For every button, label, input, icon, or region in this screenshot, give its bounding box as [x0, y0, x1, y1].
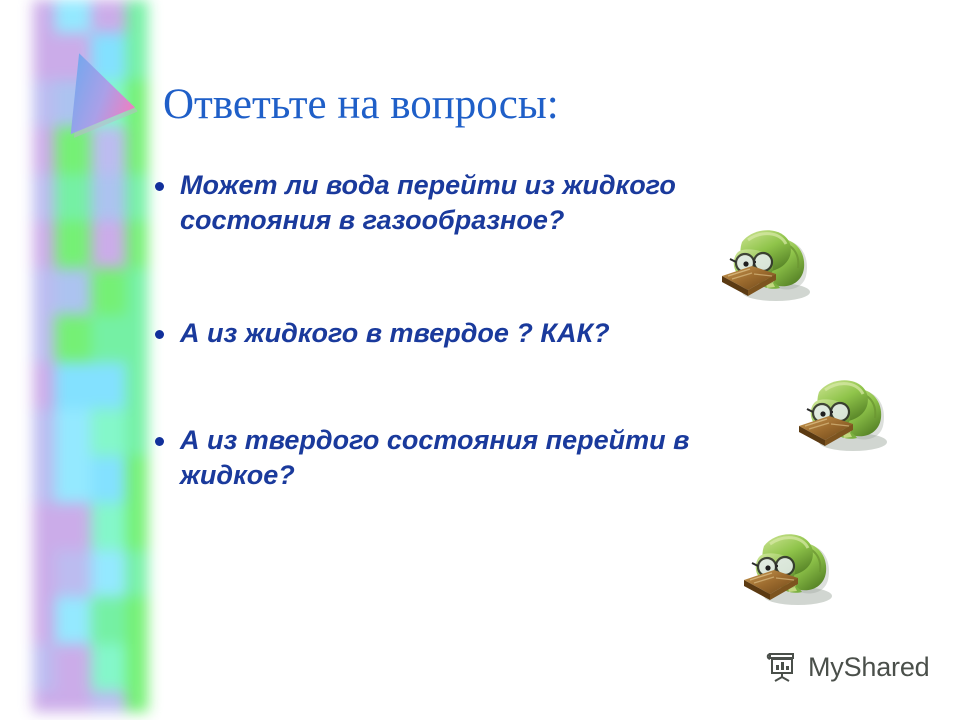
mosaic-cell — [33, 362, 55, 409]
list-item: А из твердого состояния перейти в жидкое… — [155, 423, 735, 493]
bullet-dot-icon — [155, 182, 164, 191]
list-item-label: А из твердого состояния перейти в жидкое… — [180, 423, 735, 493]
mosaic-cell — [91, 456, 127, 503]
mosaic-cell — [91, 550, 127, 597]
mosaic-cell — [55, 362, 91, 409]
mosaic-cell — [91, 315, 127, 362]
mosaic-cell — [55, 550, 91, 597]
mosaic-cell — [33, 221, 55, 268]
mosaic-cell — [55, 456, 91, 503]
mosaic-cell — [33, 550, 55, 597]
mosaic-cell — [126, 362, 148, 409]
flipchart-chart-icon — [765, 650, 799, 684]
bullet-dot-icon — [155, 330, 164, 339]
bullet-dot-icon — [155, 437, 164, 446]
mosaic-cell — [91, 174, 127, 221]
mosaic-cell — [91, 644, 127, 691]
bullet-list: Может ли вода перейти из жидкого состоян… — [155, 168, 735, 493]
mosaic-cell — [55, 597, 91, 644]
myshared-watermark: MyShared — [765, 650, 929, 684]
watermark-label: MyShared — [808, 652, 929, 683]
turtle-reading-book-icon — [740, 522, 836, 610]
turtle-reading-book-icon — [718, 218, 814, 306]
mosaic-cell — [33, 503, 55, 550]
mosaic-cell — [33, 409, 55, 456]
presentation-slide: Ответьте на вопросы: Может ли вода перей… — [0, 0, 960, 720]
mosaic-cell — [126, 174, 148, 221]
mosaic-cell — [91, 268, 127, 315]
mosaic-cell — [126, 268, 148, 315]
mosaic-cell — [55, 315, 91, 362]
mosaic-cell — [91, 691, 127, 712]
turtle-reading-book-icon — [795, 368, 891, 456]
mosaic-cell — [126, 456, 148, 503]
mosaic-cell — [33, 174, 55, 221]
mosaic-cell — [126, 550, 148, 597]
mosaic-cell — [126, 0, 148, 33]
triangle-accent-icon — [59, 46, 139, 143]
mosaic-cell — [33, 80, 55, 127]
mosaic-cell — [33, 0, 55, 33]
mosaic-cell — [55, 0, 91, 33]
mosaic-cell — [126, 315, 148, 362]
mosaic-cell — [55, 503, 91, 550]
mosaic-cell — [91, 409, 127, 456]
mosaic-cell — [33, 456, 55, 503]
mosaic-cell — [91, 503, 127, 550]
mosaic-cell — [126, 597, 148, 644]
mosaic-cell — [126, 644, 148, 691]
page-title: Ответьте на вопросы: — [163, 82, 903, 127]
mosaic-cell — [126, 691, 148, 712]
mosaic-cell — [33, 127, 55, 174]
mosaic-cell — [33, 644, 55, 691]
list-item-label: Может ли вода перейти из жидкого состоян… — [180, 168, 735, 238]
mosaic-cell — [55, 409, 91, 456]
mosaic-cell — [91, 597, 127, 644]
mosaic-cell — [33, 268, 55, 315]
mosaic-cell — [33, 597, 55, 644]
mosaic-cell — [55, 268, 91, 315]
mosaic-cell — [33, 691, 55, 712]
mosaic-cell — [55, 221, 91, 268]
mosaic-cell — [91, 221, 127, 268]
mosaic-cell — [33, 315, 55, 362]
mosaic-cell — [91, 362, 127, 409]
mosaic-cell — [33, 33, 55, 80]
mosaic-cell — [55, 644, 91, 691]
mosaic-cell — [55, 691, 91, 712]
mosaic-cell — [91, 0, 127, 33]
mosaic-cell — [126, 409, 148, 456]
mosaic-cell — [55, 174, 91, 221]
list-item-label: А из жидкого в твердое ? КАК? — [180, 316, 735, 351]
mosaic-cell — [126, 503, 148, 550]
list-item: А из жидкого в твердое ? КАК? — [155, 316, 735, 351]
list-item: Может ли вода перейти из жидкого состоян… — [155, 168, 735, 238]
mosaic-cell — [126, 221, 148, 268]
